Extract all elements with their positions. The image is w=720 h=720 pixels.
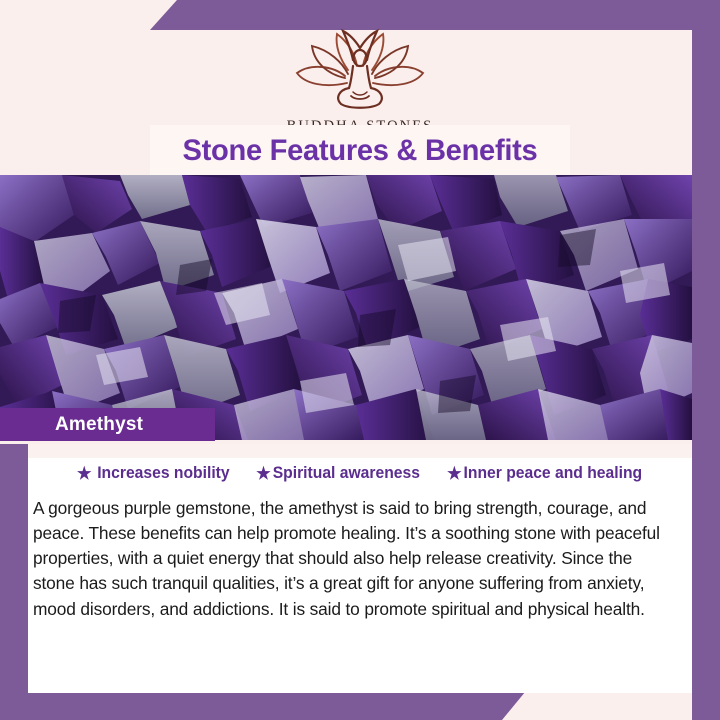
amethyst-crystal-illustration [0, 175, 692, 440]
benefit-item: ★ Increases nobility [77, 464, 230, 483]
title-plaque: Stone Features & Benefits [150, 125, 570, 177]
promo-card: BUDDHA STONES Stone Features & Benefits [0, 0, 720, 720]
star-icon: ★ [77, 465, 91, 482]
card-top-tint [28, 444, 692, 458]
brand-logo: BUDDHA STONES [0, 26, 720, 135]
stone-description: A gorgeous purple gemstone, the amethyst… [33, 496, 673, 622]
star-icon: ★ [256, 465, 270, 482]
benefits-list: ★ Increases nobility ★ Spiritual awarene… [28, 464, 692, 483]
benefit-item: ★ Inner peace and healing [447, 464, 642, 483]
page-title: Stone Features & Benefits [183, 134, 538, 168]
lotus-meditation-figure-icon [285, 26, 435, 114]
stone-name: Amethyst [55, 414, 143, 436]
benefit-label: Increases nobility [97, 464, 229, 483]
benefit-label: Spiritual awareness [272, 464, 419, 483]
star-icon: ★ [447, 465, 461, 482]
left-accent-band [0, 444, 28, 720]
stone-name-badge: Amethyst [0, 408, 215, 441]
content-card: ★ Increases nobility ★ Spiritual awarene… [28, 444, 692, 693]
benefit-label: Inner peace and healing [463, 464, 642, 483]
hero-image-amethyst [0, 175, 692, 440]
benefit-item: ★ Spiritual awareness [256, 464, 420, 483]
